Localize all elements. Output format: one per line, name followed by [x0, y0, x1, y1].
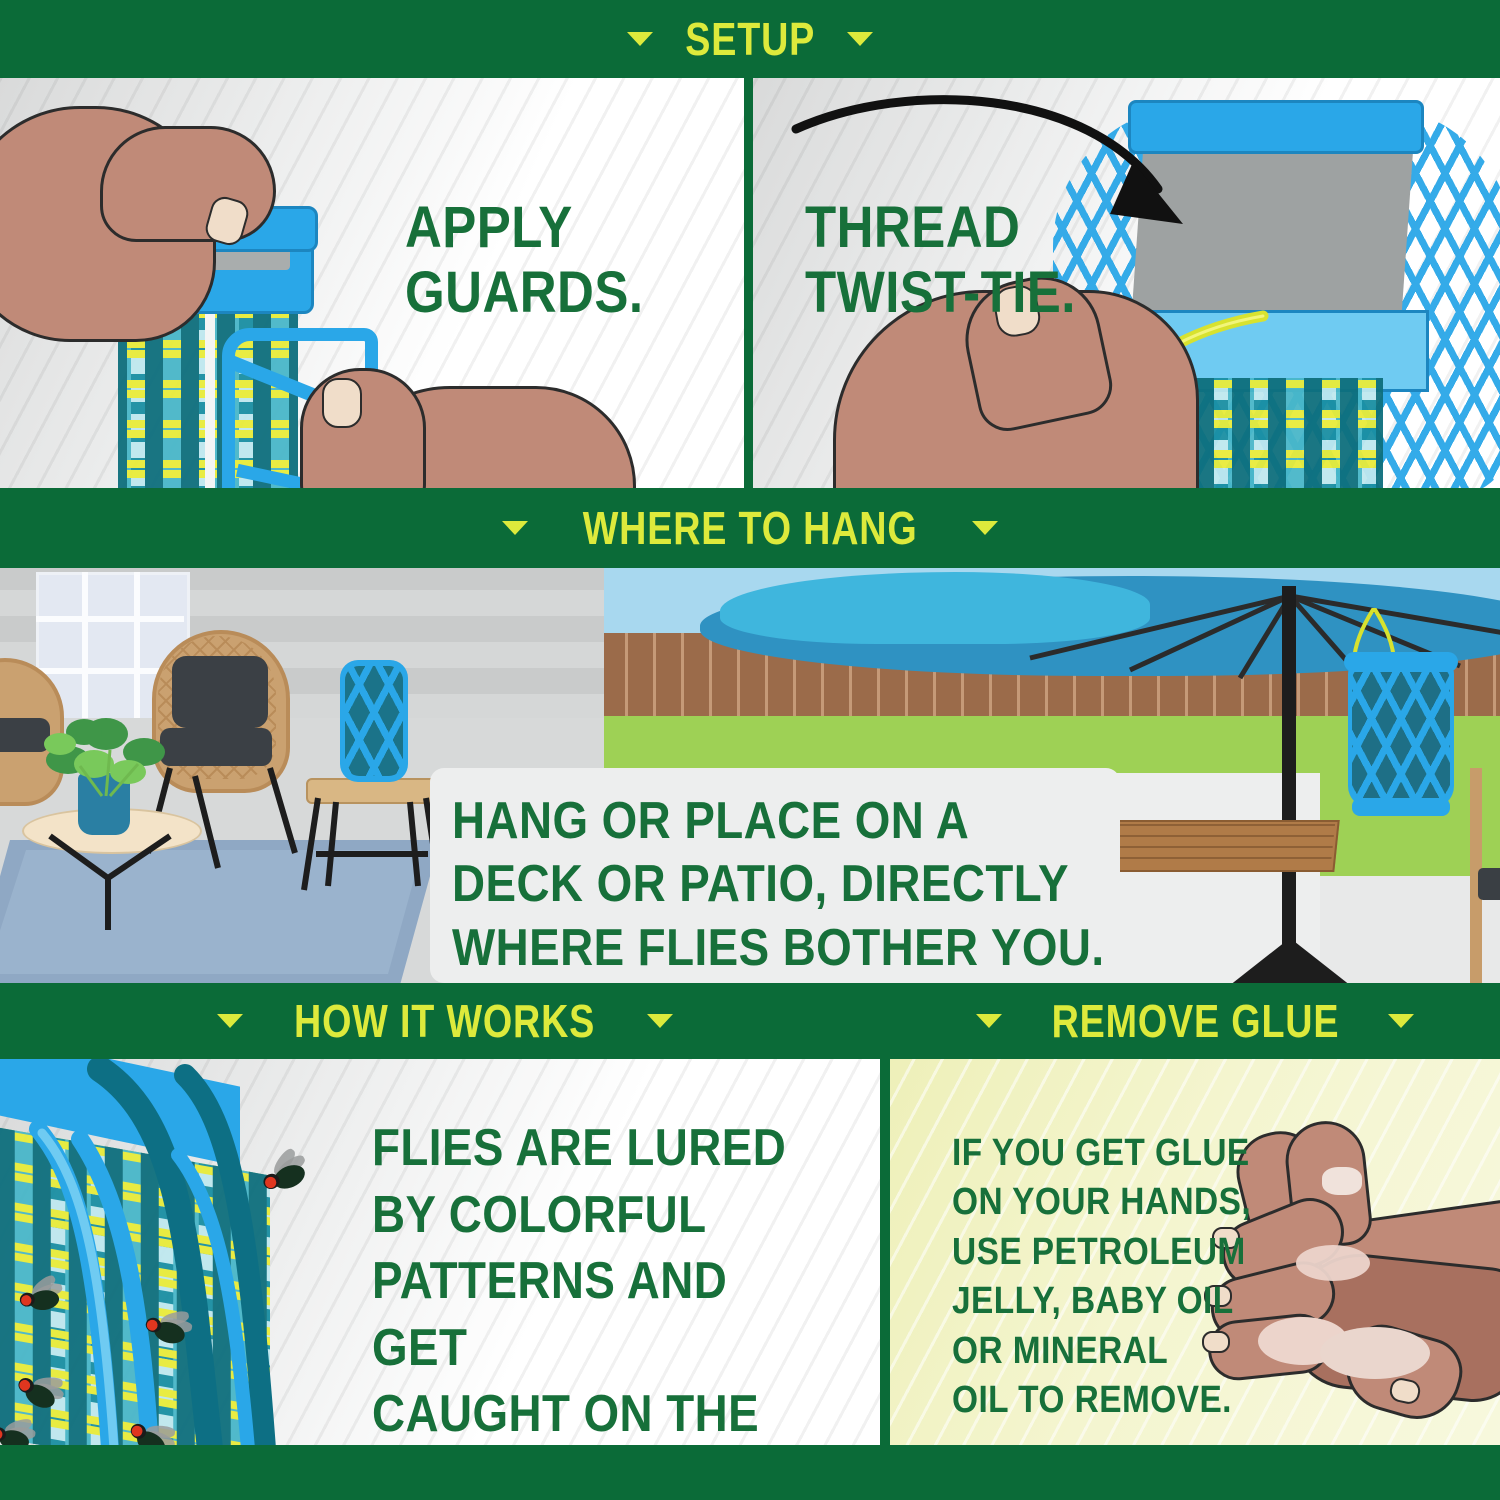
caption-where-to-hang: HANG OR PLACE ON A DECK OR PATIO, DIRECT… — [452, 790, 1105, 980]
panel-thread-twist-tie: THREAD TWIST-TIE. — [753, 78, 1500, 488]
triangle-down-icon — [502, 521, 528, 535]
panel-how-it-works: FLIES ARE LURED BY COLORFUL PATTERNS AND… — [0, 1059, 880, 1445]
triangle-down-icon — [627, 32, 653, 46]
caption-how-it-works: FLIES ARE LURED BY COLORFUL PATTERNS AND… — [372, 1115, 819, 1445]
infographic-poster: SETUP APPLY GUARDS. — [0, 0, 1500, 1500]
panel-where-to-hang: HANG OR PLACE ON A DECK OR PATIO, DIRECT… — [0, 568, 1500, 983]
trap-hanging-lattice — [1352, 666, 1450, 800]
panel-apply-guards: APPLY GUARDS. — [0, 78, 744, 488]
caption-apply-guards: APPLY GUARDS. — [405, 196, 643, 326]
trap-hanging-base — [1352, 798, 1450, 816]
triangle-down-icon — [976, 1014, 1002, 1028]
band-how-it-works: HOW IT WORKS — [0, 983, 890, 1059]
thumb-upper — [100, 126, 276, 242]
fingernail — [322, 378, 362, 428]
panel-remove-glue: IF YOU GET GLUE ON YOUR HANDS, USE PETRO… — [890, 1059, 1500, 1445]
caption-thread-twist-tie: THREAD TWIST-TIE. — [805, 196, 1076, 326]
caption-remove-glue: IF YOU GET GLUE ON YOUR HANDS, USE PETRO… — [952, 1129, 1251, 1425]
triangle-down-icon — [217, 1014, 243, 1028]
panel-divider-vertical — [880, 1059, 890, 1445]
triangle-down-icon — [972, 521, 998, 535]
umbrella-pole — [1282, 586, 1296, 976]
side-table-legs — [300, 794, 450, 904]
trap-on-table-lattice — [345, 666, 403, 776]
band-how-it-works-label: HOW IT WORKS — [294, 998, 595, 1044]
chair-back-cushion — [172, 656, 268, 728]
band-remove-glue-label: REMOVE GLUE — [1051, 998, 1339, 1044]
glue-blob — [1322, 1167, 1362, 1195]
table-planks — [1095, 820, 1335, 868]
chair-right-cushion — [1478, 868, 1500, 900]
band-setup-label: SETUP — [685, 16, 815, 62]
finger-lower — [300, 368, 426, 488]
houseplant — [40, 708, 180, 798]
glue-blob — [1320, 1327, 1430, 1379]
triangle-down-icon — [1388, 1014, 1414, 1028]
band-where-to-hang: WHERE TO HANG — [0, 488, 1500, 568]
band-where-to-hang-label: WHERE TO HANG — [583, 505, 918, 551]
band-remove-glue: REMOVE GLUE — [890, 983, 1500, 1059]
panel-divider-vertical — [744, 78, 753, 488]
umbrella-base — [1210, 938, 1380, 983]
bottom-bar — [0, 1445, 1500, 1500]
triangle-down-icon — [647, 1014, 673, 1028]
glue-blob — [1296, 1245, 1370, 1281]
triangle-down-icon — [847, 32, 873, 46]
coffee-table-legs — [30, 830, 200, 940]
band-setup: SETUP — [0, 0, 1500, 78]
trap-hanging-rim — [1344, 652, 1458, 672]
